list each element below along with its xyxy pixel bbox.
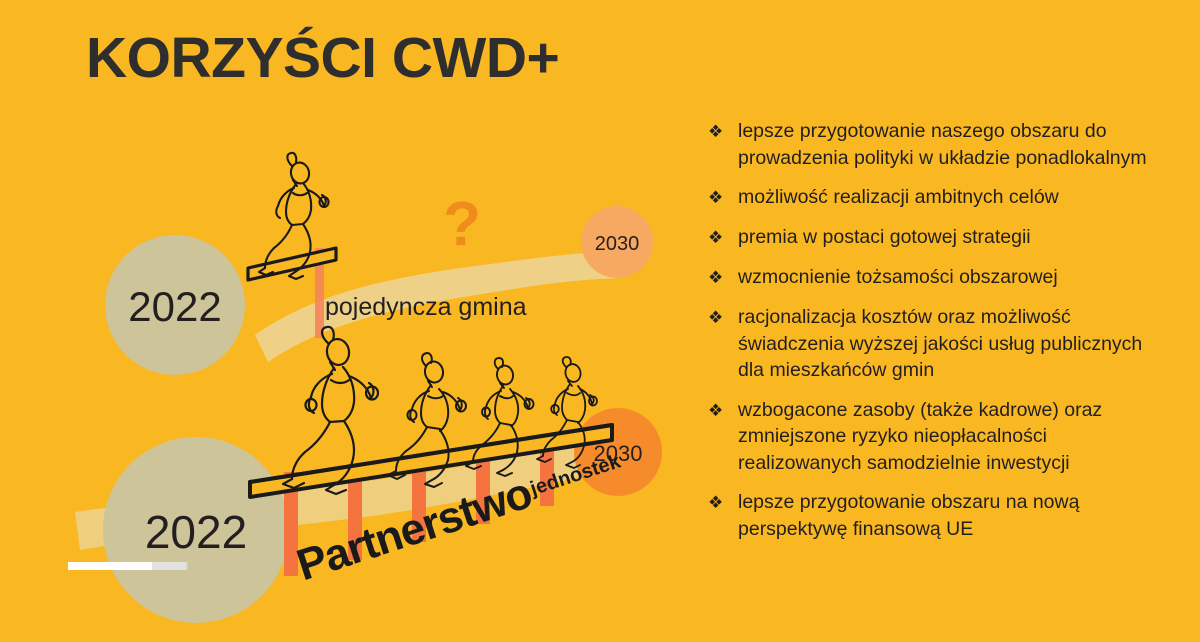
caption-pojedyncza-gmina: pojedyncza gmina: [325, 293, 527, 321]
list-item: ❖ lepsze przygotowanie obszaru na nową p…: [700, 489, 1170, 542]
year-circle-2022-top-label: 2022: [128, 283, 221, 330]
list-item: ❖ premia w postaci gotowej strategii: [700, 224, 1170, 251]
list-item: ❖ możliwość realizacji ambitnych celów: [700, 184, 1170, 211]
diamond-bullet-icon: ❖: [700, 118, 738, 145]
benefits-bullet-list: ❖ lepsze przygotowanie naszego obszaru d…: [700, 118, 1170, 555]
diamond-bullet-icon: ❖: [700, 397, 738, 424]
list-item: ❖ wzbogacone zasoby (także kadrowe) oraz…: [700, 397, 1170, 477]
year-circle-2022-bottom-label: 2022: [145, 506, 247, 558]
list-item-label: lepsze przygotowanie obszaru na nową per…: [738, 489, 1170, 542]
year-circle-2030-top-label: 2030: [595, 233, 640, 255]
diamond-bullet-icon: ❖: [700, 264, 738, 291]
slide-canvas: KORZYŚCI CWD+ 2022 2030 ?: [0, 0, 1200, 642]
list-item-label: racjonalizacja kosztów oraz możliwość św…: [738, 304, 1170, 384]
benefits-illustration: 2022 2030 ?: [0, 100, 700, 642]
diamond-bullet-icon: ❖: [700, 489, 738, 516]
list-item: ❖ racjonalizacja kosztów oraz możliwość …: [700, 304, 1170, 384]
diamond-bullet-icon: ❖: [700, 184, 738, 211]
diamond-bullet-icon: ❖: [700, 304, 738, 331]
list-item-label: wzmocnienie tożsamości obszarowej: [738, 264, 1170, 291]
list-item-label: premia w postaci gotowej strategii: [738, 224, 1170, 251]
accent-line-shadow: [152, 562, 188, 570]
list-item: ❖ wzmocnienie tożsamości obszarowej: [700, 264, 1170, 291]
diamond-bullet-icon: ❖: [700, 224, 738, 251]
question-mark-icon: ?: [443, 190, 481, 259]
list-item-label: możliwość realizacji ambitnych celów: [738, 184, 1170, 211]
list-item-label: wzbogacone zasoby (także kadrowe) oraz z…: [738, 397, 1170, 477]
list-item-label: lepsze przygotowanie naszego obszaru do …: [738, 118, 1170, 171]
page-title: KORZYŚCI CWD+: [86, 27, 559, 90]
list-item: ❖ lepsze przygotowanie naszego obszaru d…: [700, 118, 1170, 171]
